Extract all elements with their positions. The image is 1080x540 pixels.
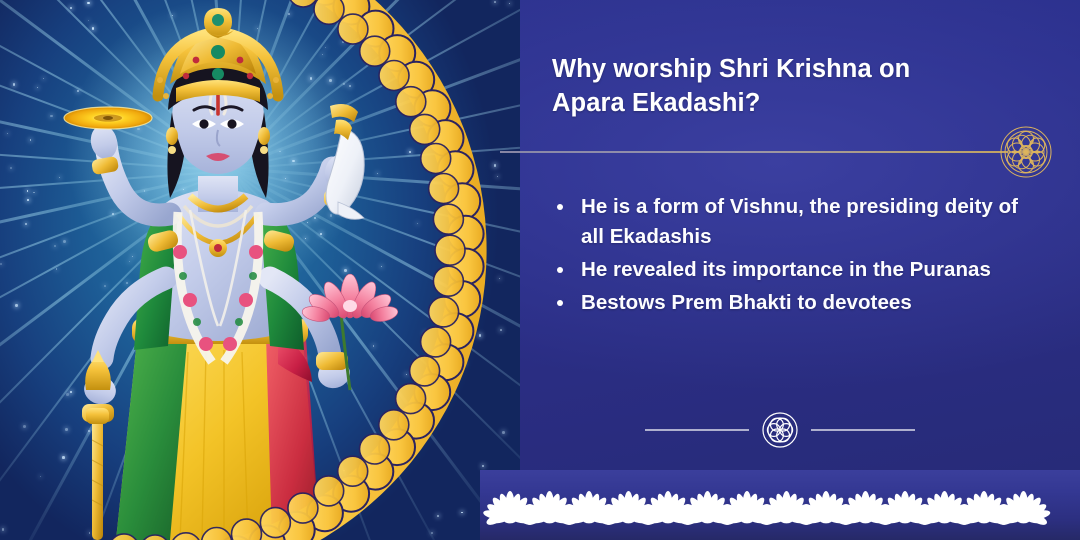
bullet-list: He is a form of Vishnu, the presiding de…	[552, 192, 1022, 322]
lotus-icon	[996, 491, 1051, 527]
lotus-row	[480, 470, 1080, 540]
header-divider-rule	[500, 151, 1008, 153]
bullet-dot-icon	[557, 300, 563, 306]
lotus-border-band	[480, 470, 1080, 540]
sudarshana-chakra-icon	[64, 107, 152, 129]
list-item: Bestows Prem Bhakti to devotees	[552, 288, 1022, 318]
list-item: He revealed its importance in the Purana…	[552, 255, 1022, 285]
page-title: Why worship Shri Krishna on Apara Ekadas…	[552, 53, 1002, 121]
list-item-text: Bestows Prem Bhakti to devotees	[581, 291, 912, 314]
gada-mace-icon	[85, 350, 111, 540]
flower-of-life-mandala-icon	[1000, 126, 1052, 178]
bullet-dot-icon	[557, 204, 563, 210]
list-item-text: He revealed its importance in the Purana…	[581, 258, 991, 281]
list-item: He is a form of Vishnu, the presiding de…	[552, 192, 1022, 252]
list-item-text: He is a form of Vishnu, the presiding de…	[581, 195, 1018, 248]
infographic-canvas: Why worship Shri Krishna on Apara Ekadas…	[0, 0, 1080, 540]
section-divider	[645, 411, 915, 449]
bullet-dot-icon	[557, 267, 563, 273]
vishnu-figure	[20, 0, 420, 540]
deity-artwork-panel	[0, 0, 520, 540]
rosette-flower-icon	[763, 413, 797, 447]
page-title-line-1: Why worship Shri Krishna on	[552, 53, 1002, 87]
page-title-line-2: Apara Ekadashi?	[552, 87, 1002, 121]
